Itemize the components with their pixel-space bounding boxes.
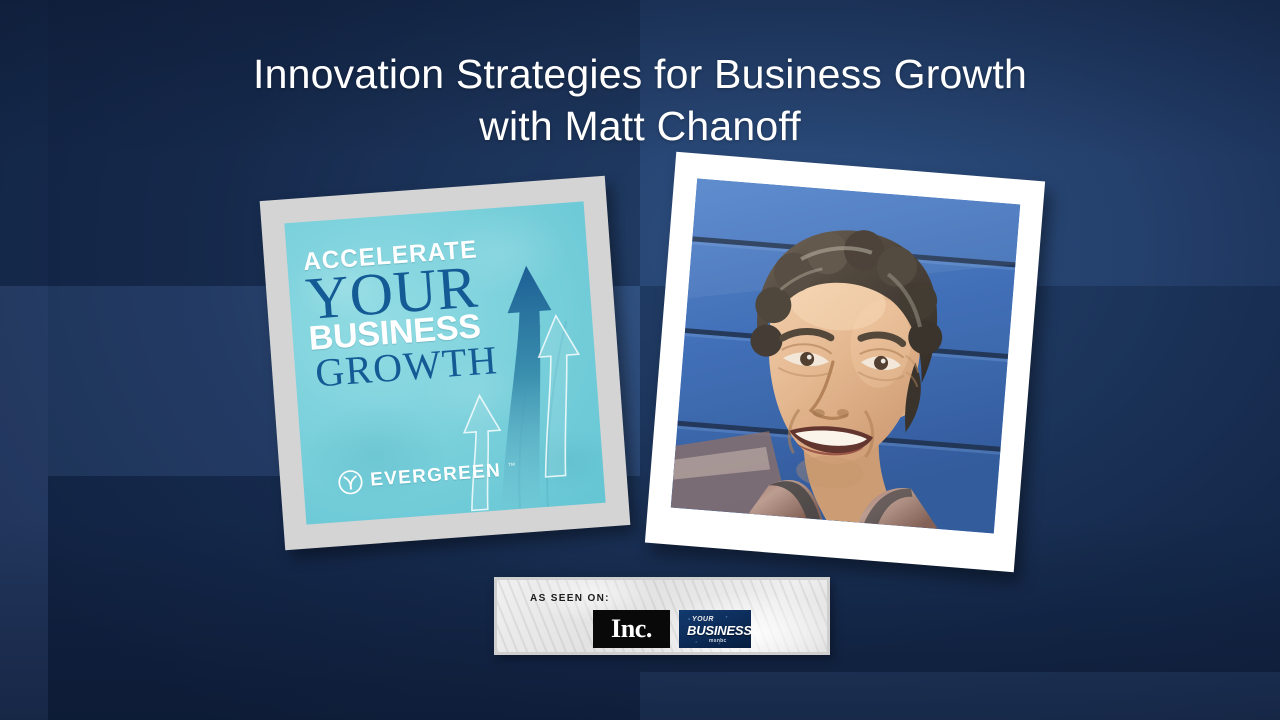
- msnbc-logo-line-business: BUSINESS: [687, 623, 751, 638]
- inc-wordmark: Inc.: [611, 616, 652, 642]
- podcast-cover-artwork: ACCELERATE YOUR BUSINESS GROWTH EVERGREE…: [284, 201, 605, 524]
- headshot-image: [671, 179, 1020, 534]
- presentation-slide: Innovation Strategies for Business Growt…: [0, 0, 1280, 720]
- msnbc-your-business-logo: YOUR BUSINESS msnbc: [679, 610, 751, 648]
- as-seen-on-label: AS SEEN ON:: [530, 593, 610, 604]
- msnbc-logo-line-your: YOUR: [692, 616, 714, 623]
- as-seen-on-banner: AS SEEN ON: Inc. YOUR BUSINESS msnbc: [494, 577, 830, 655]
- msnbc-network-mark: msnbc: [709, 638, 727, 644]
- cover-title-block: ACCELERATE YOUR BUSINESS GROWTH: [302, 235, 512, 392]
- evergreen-mark-icon: [337, 468, 365, 496]
- headshot-photo-card: [645, 152, 1045, 572]
- inc-magazine-logo: Inc.: [593, 610, 670, 648]
- podcast-cover-art-card: ACCELERATE YOUR BUSINESS GROWTH EVERGREE…: [260, 176, 631, 550]
- evergreen-trademark-symbol: ™: [507, 461, 516, 471]
- headshot-photo: [671, 179, 1020, 534]
